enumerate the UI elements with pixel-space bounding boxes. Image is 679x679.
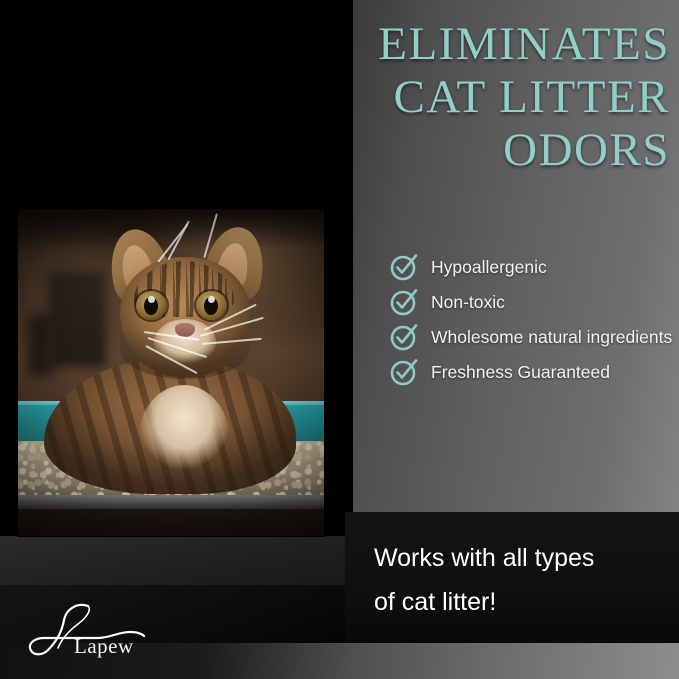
check-circle-icon <box>389 357 419 387</box>
callout-line-2: of cat litter! <box>374 580 664 624</box>
photo-scene <box>18 209 324 536</box>
headline: ELIMINATES CAT LITTER ODORS <box>300 18 670 177</box>
headline-line-1: ELIMINATES <box>300 18 670 71</box>
feature-label: Non-toxic <box>431 287 505 317</box>
product-photo <box>18 209 324 536</box>
feature-label: Wholesome natural ingredients <box>431 322 672 350</box>
headline-line-3: ODORS <box>300 124 670 177</box>
callout-box: Works with all types of cat litter! <box>345 512 679 643</box>
feature-list: Hypoallergenic Non-toxic Wholesome natur… <box>389 252 674 392</box>
feature-item: Wholesome natural ingredients <box>389 322 674 352</box>
brand-logo: Lapew <box>26 598 166 662</box>
feature-item: Freshness Guaranteed <box>389 357 674 387</box>
feature-label: Hypoallergenic <box>431 252 547 282</box>
feature-label: Freshness Guaranteed <box>431 357 610 387</box>
headline-line-2: CAT LITTER <box>300 71 670 124</box>
logo-wordmark: Lapew <box>74 634 134 659</box>
check-circle-icon <box>389 252 419 282</box>
feature-item: Hypoallergenic <box>389 252 674 282</box>
feature-item: Non-toxic <box>389 287 674 317</box>
check-circle-icon <box>389 322 419 352</box>
callout-line-1: Works with all types <box>374 536 664 580</box>
advertisement-banner: ELIMINATES CAT LITTER ODORS <box>0 0 679 679</box>
check-circle-icon <box>389 287 419 317</box>
photo-vignette <box>18 209 324 536</box>
callout-text: Works with all types of cat litter! <box>374 536 664 624</box>
